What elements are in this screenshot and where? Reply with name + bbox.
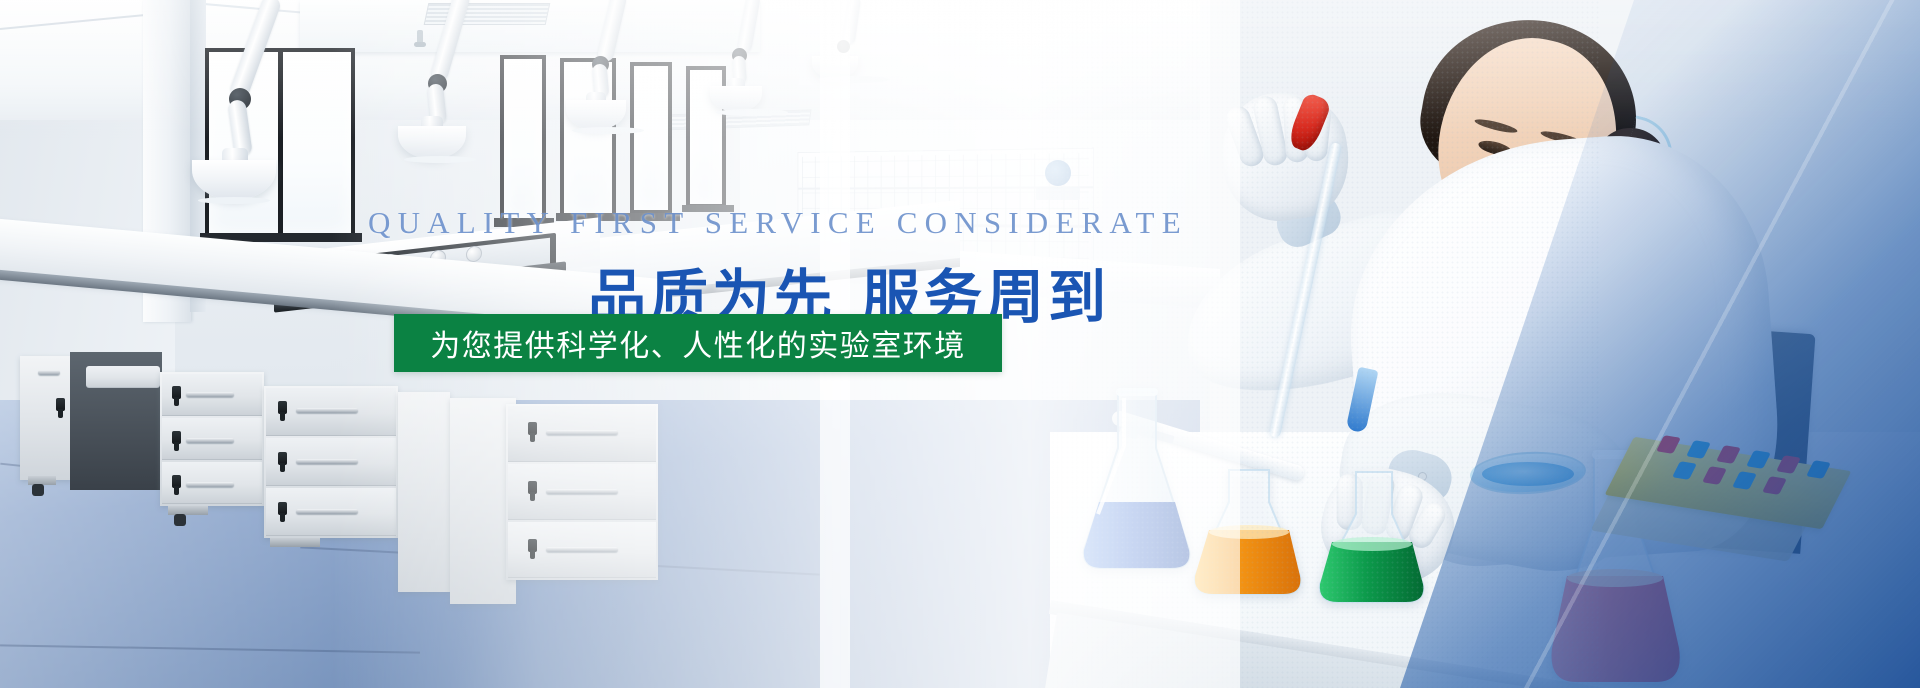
laboratory-hero-banner: QUALITY FIRST SERVICE CONSIDERATE 品质为先服务… [0, 0, 1920, 688]
subtitle-text: 为您提供科学化、人性化的实验室环境 [430, 321, 966, 365]
subtitle-bar: 为您提供科学化、人性化的实验室环境 [394, 314, 1002, 372]
banner-copy: QUALITY FIRST SERVICE CONSIDERATE 品质为先服务… [0, 0, 1920, 688]
english-tagline: QUALITY FIRST SERVICE CONSIDERATE [368, 205, 1188, 241]
